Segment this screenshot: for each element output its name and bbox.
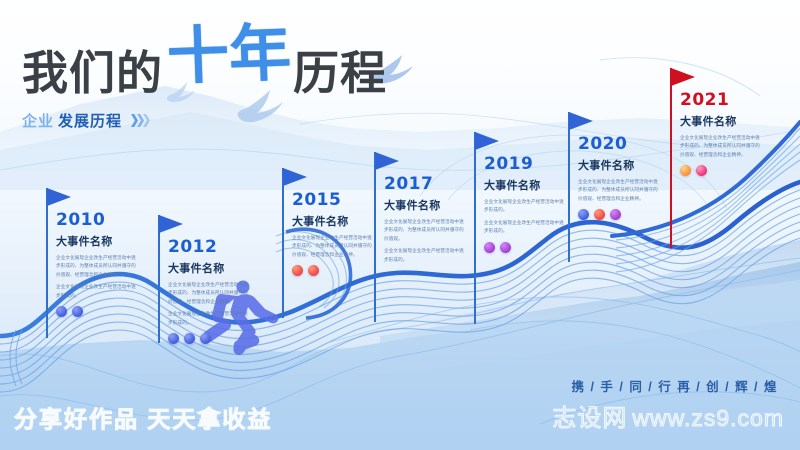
milestone-paragraph: 企业文化展现企业改生产经营活动中逐步形成的。 xyxy=(484,198,566,215)
milestone-dot-row xyxy=(680,165,762,176)
subtitle: 企业 发展历程 xyxy=(22,110,387,131)
milestone-card-2010[interactable]: 2010大事件名称企业文化展现企业改生产经营活动中逐步形成的、为整体成员所认同并… xyxy=(46,188,138,338)
milestone-year: 2017 xyxy=(384,176,466,193)
milestone-card-2020[interactable]: 2020大事件名称企业文化展现企业改生产经营活动中逐步形成的、为整体成员所认同并… xyxy=(568,112,660,262)
flag-icon xyxy=(47,188,71,206)
title-brush: 十年 xyxy=(166,22,292,88)
milestone-year: 2019 xyxy=(484,156,566,173)
milestone-body: 2019大事件名称企业文化展现企业改生产经营活动中逐步形成的。企业文化展现企业改… xyxy=(474,132,566,253)
flag-icon xyxy=(475,132,499,150)
milestone-pole xyxy=(568,112,570,262)
milestone-heading: 大事件名称 xyxy=(484,177,566,193)
flag-icon xyxy=(283,168,307,186)
milestone-pole xyxy=(474,132,476,324)
milestone-dot-blue xyxy=(200,333,211,344)
watermark-left-text: 分享好作品 天天拿收益 xyxy=(14,400,272,434)
milestone-dot-row xyxy=(168,333,250,344)
poster-header: 我们的 十年 历程 企业 发展历程 xyxy=(22,26,387,131)
milestone-dot-row xyxy=(578,209,660,220)
milestone-dot-red xyxy=(292,265,303,276)
milestone-pole xyxy=(158,215,160,343)
milestone-paragraph: 企业文化展现企业改生产经营活动中逐步形成的、为整体成员所认同并遵守的价值观。 xyxy=(384,218,466,243)
poster-canvas: 我们的 十年 历程 企业 发展历程 2010大事件名称企业文化展现企业改生产经营… xyxy=(0,0,800,450)
milestone-card-2015[interactable]: 2015大事件名称企业文化展现企业改生产经营活动中逐步形成的、为整体成员所认同并… xyxy=(282,168,374,318)
title-prefix: 我们的 xyxy=(22,50,163,96)
title-suffix: 历程 xyxy=(293,50,387,96)
milestone-dot-blue xyxy=(578,209,589,220)
milestone-dot-blue xyxy=(56,306,67,317)
milestone-dot-purple xyxy=(500,242,511,253)
milestone-card-2019[interactable]: 2019大事件名称企业文化展现企业改生产经营活动中逐步形成的。企业文化展现企业改… xyxy=(474,132,566,324)
milestone-heading: 大事件名称 xyxy=(168,260,250,276)
subtitle-light: 企业 xyxy=(22,110,54,131)
milestone-dot-orange xyxy=(680,165,691,176)
milestone-year: 2010 xyxy=(56,212,138,229)
milestone-paragraph: 企业文化展现企业改生产经营活动中逐步形成的、为整体成员所认同并遵守的价值观、经营… xyxy=(578,178,660,203)
milestone-heading: 大事件名称 xyxy=(56,233,138,249)
milestone-paragraph: 企业文化展现企业改生产经营活动中逐步形成的、为整体成员所认同并遵守的价值观、经营… xyxy=(292,234,374,259)
milestone-dot-pink xyxy=(696,165,707,176)
milestone-pole xyxy=(282,168,284,318)
milestone-year: 2020 xyxy=(578,136,660,153)
milestone-heading: 大事件名称 xyxy=(578,157,660,173)
flag-icon xyxy=(569,112,593,130)
milestone-pole xyxy=(670,68,672,248)
flag-icon xyxy=(671,68,695,86)
flag-icon xyxy=(159,215,183,233)
milestone-heading: 大事件名称 xyxy=(292,213,374,229)
milestone-paragraph: 企业文化展现企业改生产经营活动中逐步形成的、为整体成员所认同并遵守的价值观、经营… xyxy=(680,134,762,159)
milestone-paragraph: 企业文化展现企业改生产经营活动中逐步形成的、为整体成员所认同并遵守的价值观、经营… xyxy=(56,254,138,279)
milestone-heading: 大事件名称 xyxy=(680,113,762,129)
milestone-paragraph: 企业文化展现企业改生产经营活动中逐步形成的、为整体成员所认同并遵守的价值观、经营… xyxy=(168,281,250,306)
watermark-brand-block: 志设网 www.zs9.com xyxy=(552,398,784,433)
milestone-body: 2012大事件名称企业文化展现企业改生产经营活动中逐步形成的、为整体成员所认同并… xyxy=(158,215,250,344)
flag-icon xyxy=(375,152,399,170)
footer-slogan: 携 / 手 / 同 / 行 再 / 创 / 辉 / 煌 xyxy=(572,376,779,395)
milestone-pole xyxy=(374,152,376,322)
milestone-paragraph: 企业文化展现企业改生产经营活动中逐步形成的。 xyxy=(484,219,566,236)
milestone-dot-purple xyxy=(484,242,495,253)
milestone-dot-purple xyxy=(610,209,621,220)
page-title: 我们的 十年 历程 xyxy=(22,26,387,96)
milestone-dot-blue xyxy=(168,333,179,344)
milestone-dot-row xyxy=(292,265,374,276)
watermark-brand: 志设网 xyxy=(552,398,627,433)
milestone-paragraph: 企业文化展现企业改生产经营活动中逐步形成的。 xyxy=(384,247,466,264)
milestone-paragraph: 企业文化展现企业改生产经营活动中逐步形成的。 xyxy=(56,283,138,300)
milestone-year: 2021 xyxy=(680,92,762,109)
milestone-pole xyxy=(46,188,48,338)
milestone-card-2021[interactable]: 2021大事件名称企业文化展现企业改生产经营活动中逐步形成的、为整体成员所认同并… xyxy=(670,68,762,248)
milestone-paragraph: 企业文化展现企业改生产经营活动中逐步形成的。 xyxy=(168,310,250,327)
chevron-right-icon xyxy=(131,114,149,127)
milestone-dot-red xyxy=(594,209,605,220)
watermark-url: www.zs9.com xyxy=(632,405,784,432)
milestone-dot-blue xyxy=(72,306,83,317)
subtitle-bold: 发展历程 xyxy=(58,110,122,131)
milestone-year: 2012 xyxy=(168,239,250,256)
milestone-dot-row xyxy=(484,242,566,253)
milestone-dot-red xyxy=(308,265,319,276)
milestone-dot-blue xyxy=(184,333,195,344)
milestone-year: 2015 xyxy=(292,192,374,209)
milestone-heading: 大事件名称 xyxy=(384,197,466,213)
milestone-card-2012[interactable]: 2012大事件名称企业文化展现企业改生产经营活动中逐步形成的、为整体成员所认同并… xyxy=(158,215,250,343)
milestone-dot-row xyxy=(56,306,138,317)
milestone-card-2017[interactable]: 2017大事件名称企业文化展现企业改生产经营活动中逐步形成的、为整体成员所认同并… xyxy=(374,152,466,322)
milestone-body: 2010大事件名称企业文化展现企业改生产经营活动中逐步形成的、为整体成员所认同并… xyxy=(46,188,138,317)
